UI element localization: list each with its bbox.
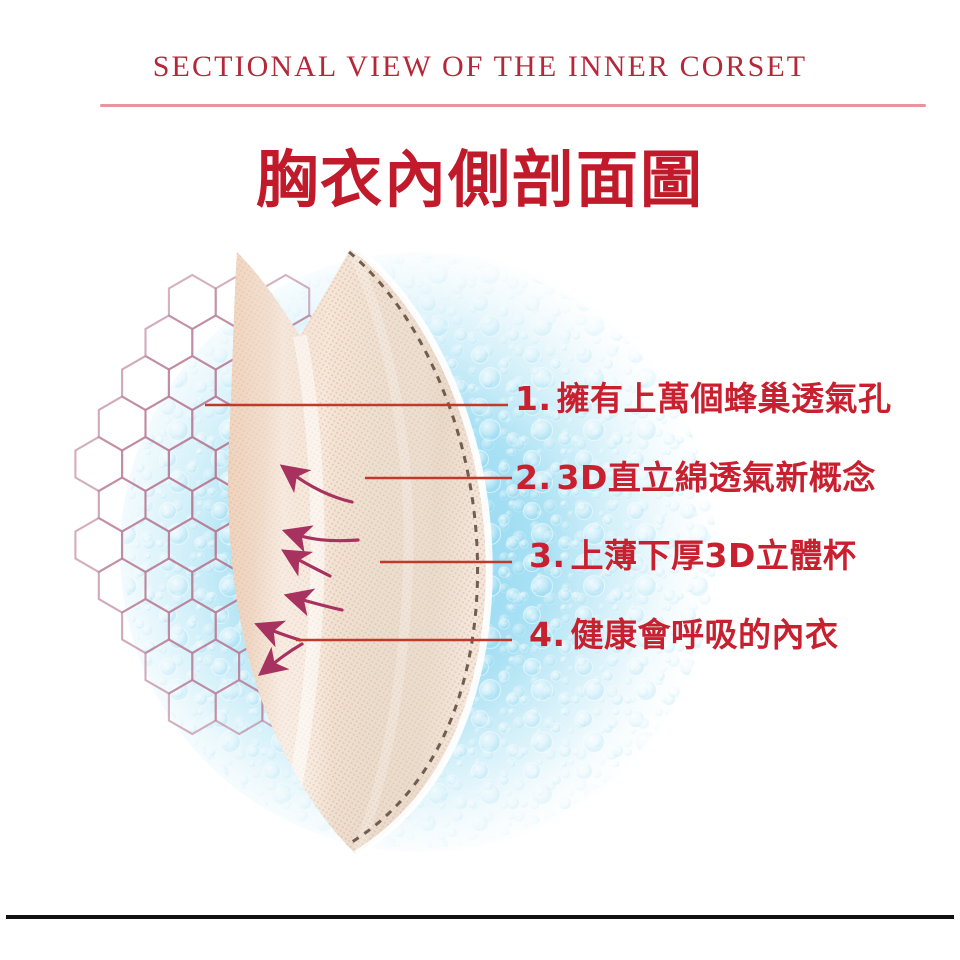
feature-text-1: 擁有上萬個蜂巢透氣孔	[557, 379, 892, 418]
honeycomb-cell	[169, 275, 216, 329]
honeycomb-cell	[99, 397, 146, 451]
feature-text-3: 上薄下厚3D立體杯	[571, 536, 857, 575]
honeycomb-cell	[146, 316, 193, 370]
feature-text-2: 3D直立綿透氣新概念	[557, 458, 876, 497]
honeycomb-cell	[75, 437, 122, 491]
feature-number-2: 2.	[515, 458, 552, 497]
honeycomb-cell	[75, 518, 122, 572]
title-divider	[100, 104, 926, 107]
feature-item-3: 3.上薄下厚3D立體杯	[529, 539, 856, 572]
page-title-chinese: 胸衣內側剖面圖	[0, 129, 960, 219]
feature-item-1: 1.擁有上萬個蜂巢透氣孔	[515, 382, 892, 415]
feature-item-4: 4.健康會呼吸的內衣	[529, 618, 839, 651]
bottom-divider	[6, 915, 954, 919]
feature-text-4: 健康會呼吸的內衣	[571, 615, 839, 654]
feature-number-3: 3.	[529, 536, 566, 575]
page-title-english: SECTIONAL VIEW OF THE INNER CORSET	[0, 50, 960, 84]
poster-root: SECTIONAL VIEW OF THE INNER CORSET 胸衣內側剖…	[0, 0, 960, 960]
feature-number-1: 1.	[515, 379, 552, 418]
feature-item-2: 2.3D直立綿透氣新概念	[515, 461, 876, 494]
feature-number-4: 4.	[529, 615, 566, 654]
